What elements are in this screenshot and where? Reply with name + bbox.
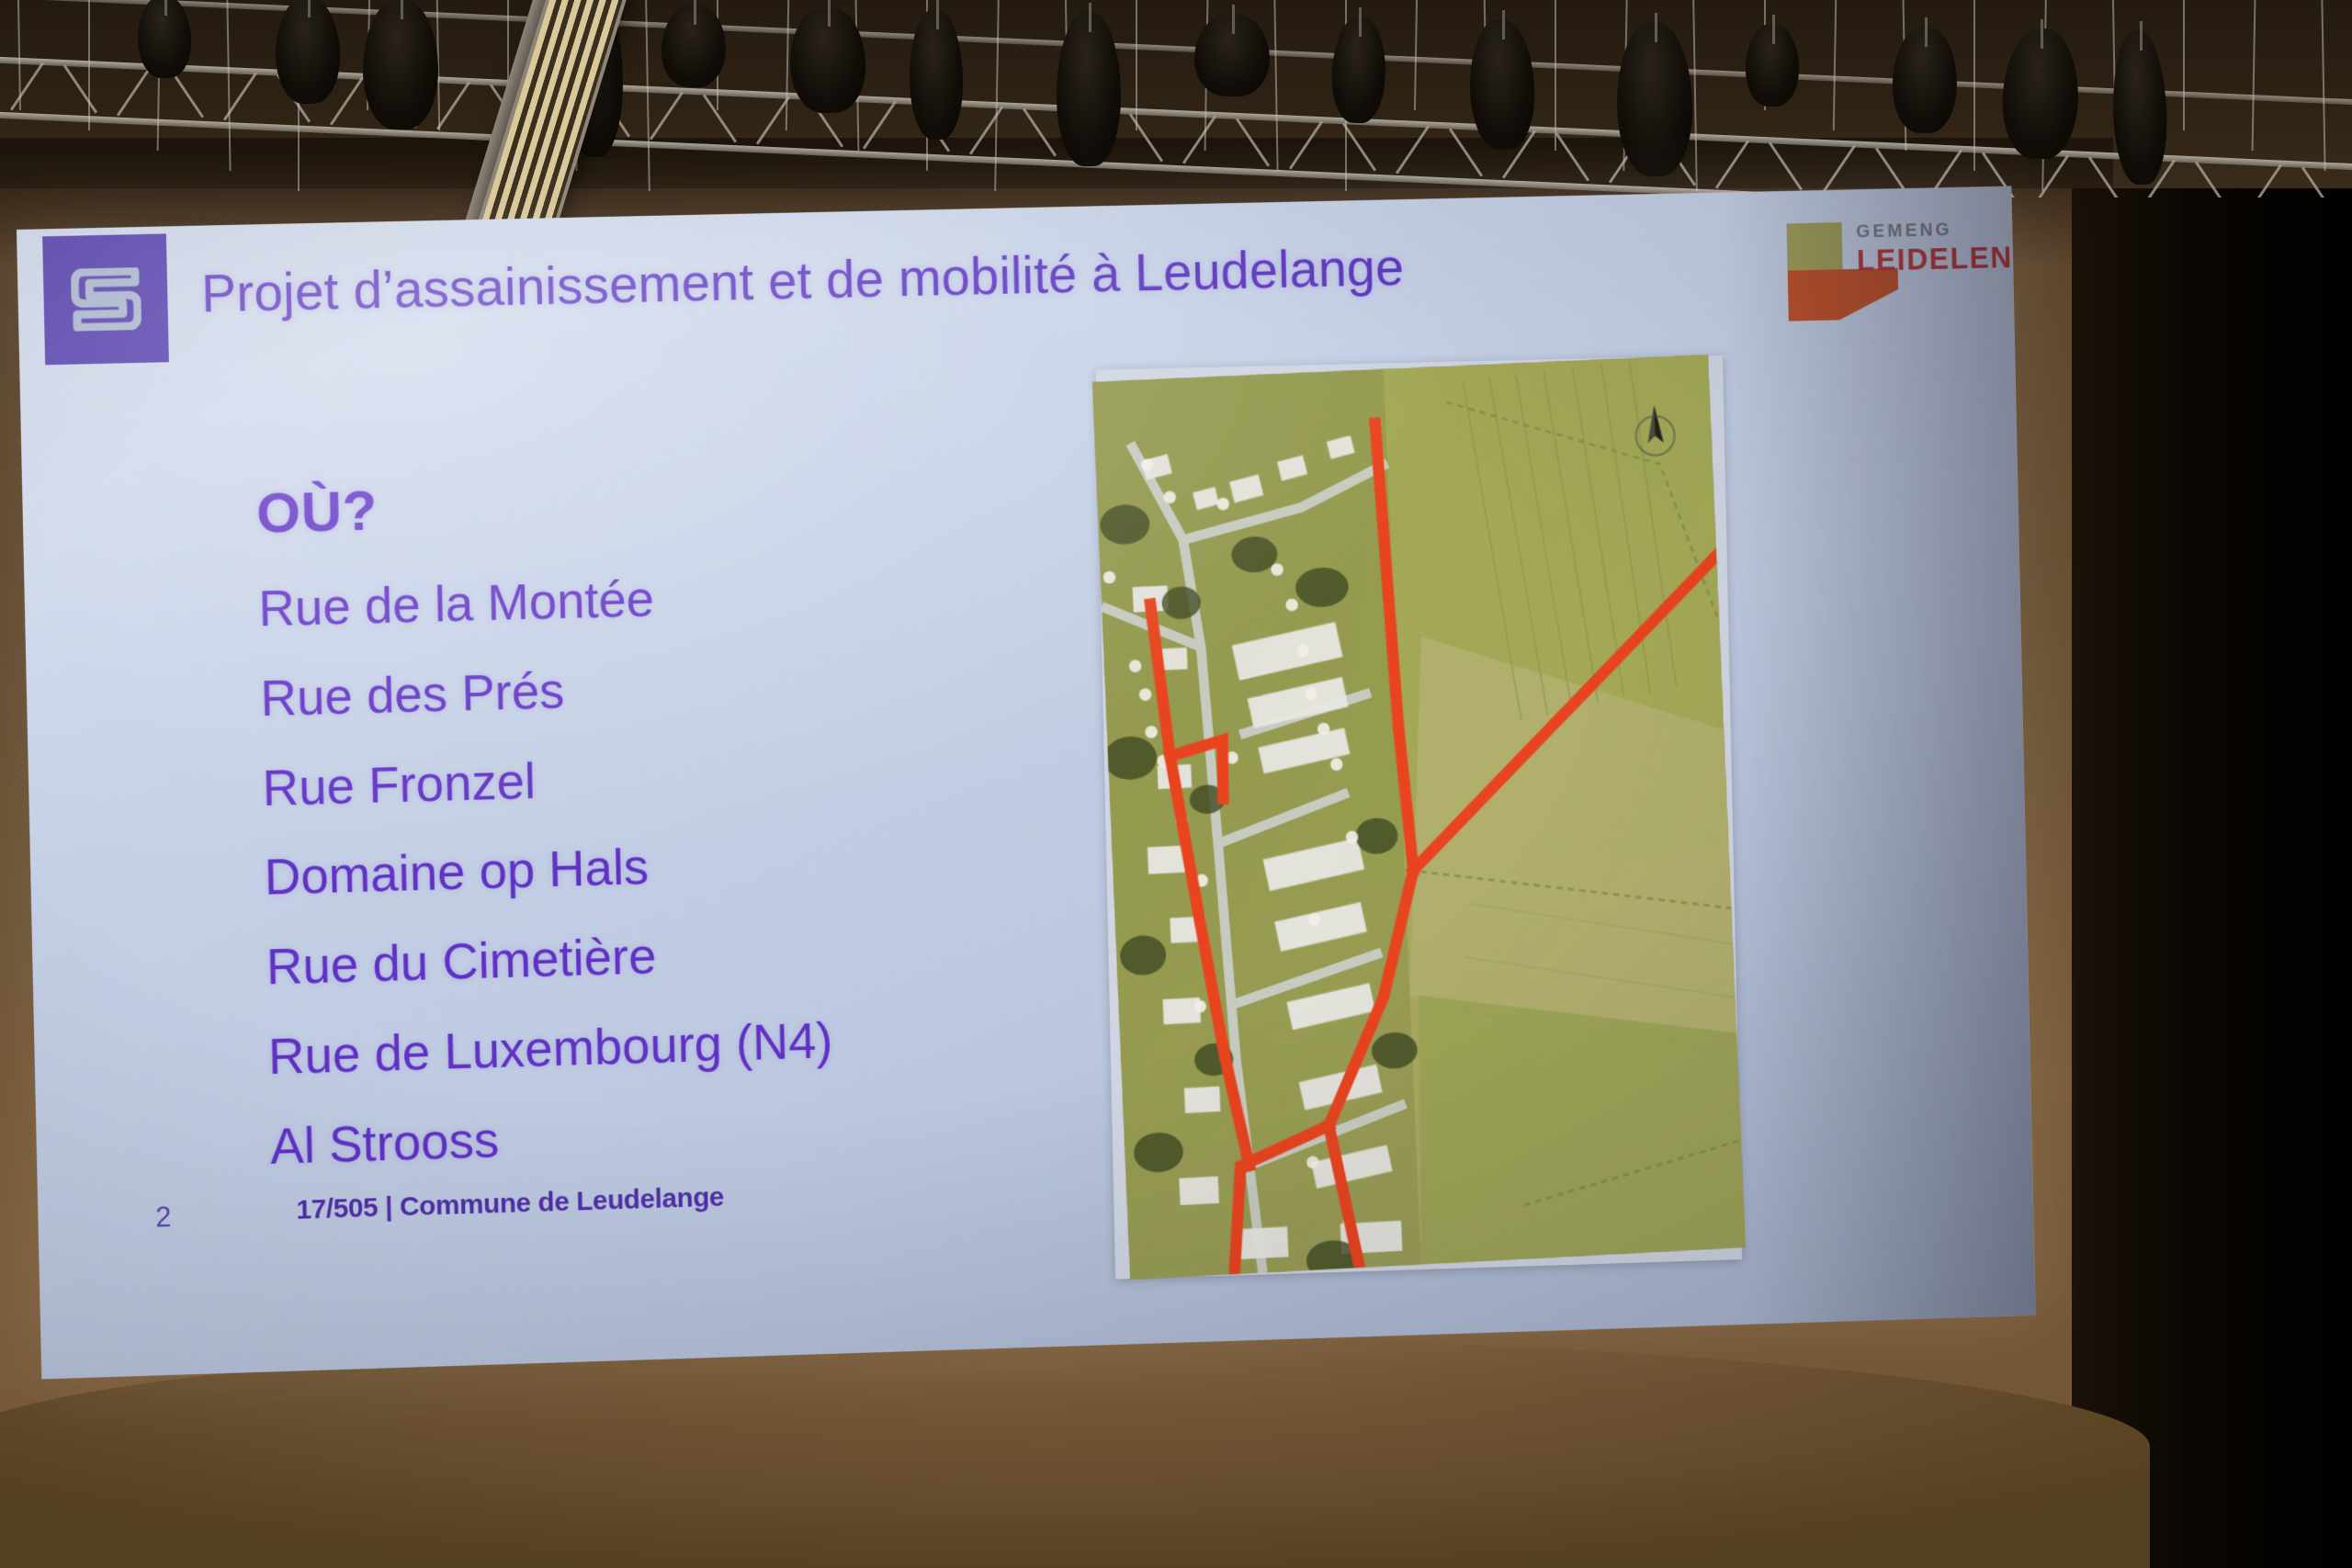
truss-diagonal — [1182, 116, 1216, 164]
rigging-wire — [1273, 0, 1278, 171]
truss-diagonal — [1236, 118, 1270, 166]
overhead-lighting-truss: // decorative truss diagonals (structure… — [0, 0, 2352, 197]
truss-diagonal — [863, 101, 897, 150]
rigging-wire — [786, 0, 789, 130]
slide-right-dim — [1718, 186, 2035, 1325]
list-item: Rue Fronzel — [262, 740, 1080, 815]
stage-light — [1616, 21, 1694, 176]
lamp-yoke — [2140, 21, 2143, 51]
lamp-yoke — [401, 0, 403, 19]
rigging-wire — [2252, 0, 2256, 151]
truss-diagonal — [1129, 113, 1163, 162]
rigging-wire — [2183, 0, 2185, 130]
photo-scene: // decorative truss diagonals (structure… — [0, 0, 2352, 1568]
lamp-yoke — [1359, 7, 1362, 37]
lamp-yoke — [936, 0, 939, 29]
lamp-yoke — [1502, 10, 1505, 39]
room-floor — [0, 1337, 2150, 1568]
truss-diagonal — [2088, 157, 2122, 197]
stage-light — [1057, 12, 1121, 166]
map-frame: www.geoportail.lu — [1096, 355, 1742, 1280]
list-item: Rue des Prés — [260, 651, 1078, 726]
room-wall-dark-right — [2072, 0, 2352, 1568]
truss-diagonal — [1289, 120, 1323, 169]
lamp-yoke — [1772, 15, 1775, 44]
truss-diagonal — [2035, 154, 2069, 197]
rigging-wire — [1973, 0, 1975, 171]
truss-diagonal — [436, 82, 470, 130]
truss-diagonal — [1715, 140, 1749, 188]
rigging-wire — [226, 0, 231, 171]
lamp-yoke — [694, 0, 696, 25]
rigging-wire — [1692, 0, 1698, 191]
lamp-yoke — [1655, 13, 1657, 42]
s-glyph-icon — [70, 267, 141, 332]
truss-diagonal — [650, 91, 684, 140]
rigging-wire — [1833, 0, 1837, 130]
logo-line-leideleng: LEIDELENG — [1857, 240, 2036, 278]
stage-light — [2110, 29, 2169, 186]
truss-diagonal — [2195, 162, 2229, 197]
street-list: OÙ? Rue de la Montée Rue des Prés Rue Fr… — [255, 461, 1088, 1210]
truss-diagonal — [2248, 164, 2282, 197]
rigging-wire — [88, 0, 90, 130]
truss-diagonal — [703, 94, 737, 142]
truss-diagonal — [1822, 144, 1856, 193]
logo-square-shape — [1787, 222, 1843, 276]
list-heading: OÙ? — [255, 461, 1074, 546]
rigging-wire — [1414, 0, 1418, 110]
list-item: Al Strooss — [270, 1096, 1088, 1173]
list-item: Rue de Luxembourg (N4) — [267, 1007, 1085, 1083]
municipal-logo: GEMENG LEIDELENG — [1786, 210, 1970, 314]
projection-screen: Projet d’assainissement et de mobilité à… — [17, 186, 2036, 1380]
truss-chord — [0, 55, 2352, 174]
s-logo-icon — [42, 233, 169, 365]
map-graphic — [1092, 355, 1746, 1280]
rigging-wire — [645, 0, 650, 191]
truss-diagonal — [1023, 108, 1057, 157]
truss-diagonal — [1396, 125, 1430, 174]
truss-diagonal — [63, 64, 97, 113]
rigging-wire — [2321, 0, 2325, 171]
truss-diagonal — [10, 62, 44, 111]
lamp-yoke — [1925, 17, 1928, 47]
list-item: Rue du Cimetière — [266, 918, 1083, 994]
stage-light — [363, 0, 438, 130]
list-item: Domaine op Hals — [264, 829, 1081, 905]
truss-diagonal — [117, 67, 151, 116]
truss-diagonal — [2301, 166, 2335, 197]
lamp-yoke — [1089, 3, 1091, 32]
lamp-yoke — [1232, 5, 1235, 34]
rigging-wire — [1136, 0, 1137, 130]
presentation-slide: Projet d’assainissement et de mobilité à… — [17, 186, 2036, 1380]
rigging-wire — [17, 0, 21, 110]
page-number: 2 — [155, 1201, 172, 1234]
truss-diagonal — [1449, 128, 1483, 176]
aerial-map-leudelange: www.geoportail.lu — [1092, 355, 1746, 1280]
lamp-yoke — [308, 0, 311, 17]
rigging-wire — [1555, 0, 1556, 151]
slide-title: Projet d’assainissement et de mobilité à… — [200, 233, 1576, 324]
list-item: Rue de la Montée — [258, 562, 1076, 636]
lamp-yoke — [164, 0, 167, 16]
lamp-yoke — [2041, 19, 2043, 49]
truss-diagonal — [1555, 132, 1589, 181]
lamp-yoke — [828, 0, 831, 27]
truss-diagonal — [1769, 142, 1803, 191]
truss-diagonal — [969, 106, 1003, 154]
logo-line-gemeng: GEMENG — [1856, 220, 1952, 243]
truss-diagonal — [1342, 123, 1376, 172]
